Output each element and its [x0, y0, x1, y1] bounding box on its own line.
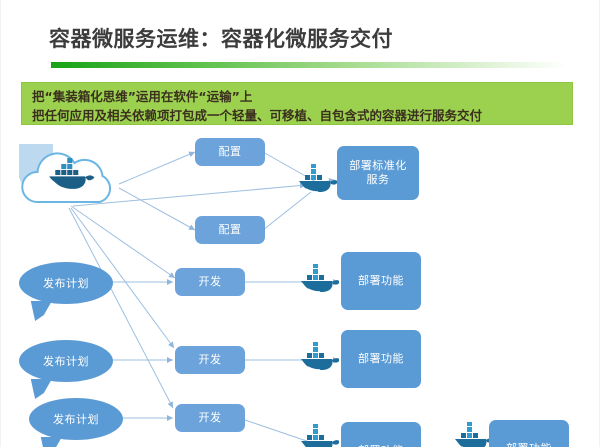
release-plan-bubble-3[interactable]: 发布计划: [29, 398, 123, 440]
dev-box-3-label: 开发: [199, 411, 222, 425]
deploy-feature-box-1-label: 部署功能: [358, 274, 404, 288]
deploy-standard-service-line-1: 部署标准化: [349, 159, 407, 173]
config-box-1[interactable]: 配置: [195, 138, 265, 166]
docker-whale-icon: [453, 422, 493, 447]
config-box-2-label: 配置: [219, 223, 242, 237]
callout-line-1: 把“集装箱化思维”运用在软件“运输”上: [32, 87, 562, 106]
slide-canvas: 容器微服务运维：容器化微服务交付 把“集装箱化思维”运用在软件“运输”上 把任何…: [0, 0, 600, 447]
callout-line-2: 把任何应用及相关依赖项打包成一个轻量、可移植、自包含式的容器进行服务交付: [32, 106, 562, 125]
dev-box-2[interactable]: 开发: [175, 346, 245, 374]
dev-box-2-label: 开发: [199, 353, 222, 367]
dev-box-3[interactable]: 开发: [175, 404, 245, 432]
deploy-feature-box-4-label: 部署功能: [506, 442, 552, 447]
page-title: 容器微服务运维：容器化微服务交付: [49, 23, 569, 53]
deploy-feature-box-3[interactable]: 部署功能: [341, 422, 421, 447]
config-box-2[interactable]: 配置: [195, 216, 265, 244]
docker-cloud-icon: [15, 140, 119, 212]
deploy-feature-box-2-label: 部署功能: [358, 352, 404, 366]
release-plan-bubble-1-label: 发布计划: [43, 275, 89, 291]
docker-whale-icon: [299, 342, 339, 376]
release-plan-bubble-2[interactable]: 发布计划: [19, 340, 113, 382]
release-plan-bubble-1[interactable]: 发布计划: [19, 262, 113, 304]
deploy-feature-box-1[interactable]: 部署功能: [341, 252, 421, 310]
deploy-standard-service-box[interactable]: 部署标准化 服务: [337, 146, 419, 200]
dev-box-1[interactable]: 开发: [175, 268, 245, 296]
release-plan-bubble-2-label: 发布计划: [43, 353, 89, 369]
delivery-flow-diagram: 配置 配置 部署标准化 服务 发布计划 发布计划 发布计划 开发 开发 开发: [1, 130, 600, 447]
deploy-standard-service-line-2: 服务: [367, 173, 390, 187]
dev-box-1-label: 开发: [199, 275, 222, 289]
release-plan-bubble-3-label: 发布计划: [53, 411, 99, 427]
green-callout-box: 把“集装箱化思维”运用在软件“运输”上 把任何应用及相关依赖项打包成一个轻量、可…: [21, 82, 573, 125]
docker-whale-icon: [299, 424, 339, 447]
title-underline-rule: [51, 62, 567, 68]
docker-whale-icon: [297, 164, 337, 198]
docker-whale-icon: [299, 264, 339, 298]
deploy-feature-box-2[interactable]: 部署功能: [341, 330, 421, 388]
config-box-1-label: 配置: [219, 145, 242, 159]
deploy-feature-box-4[interactable]: 部署功能: [489, 420, 569, 447]
